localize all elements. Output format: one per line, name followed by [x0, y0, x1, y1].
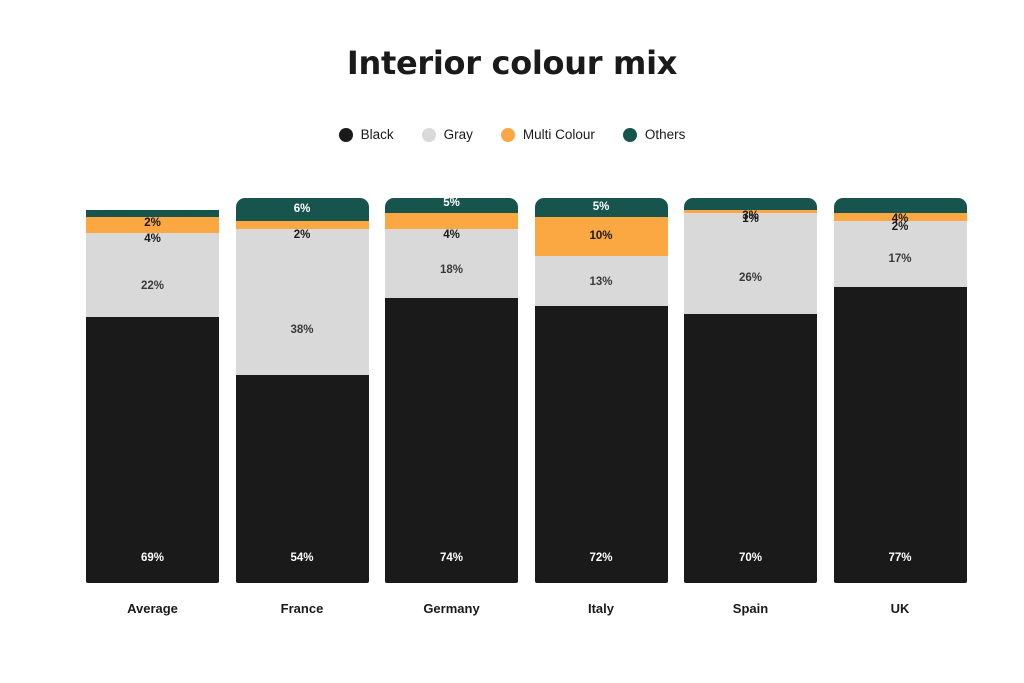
bar-segment[interactable] [385, 229, 518, 298]
bar-segment[interactable] [86, 217, 219, 232]
x-axis-label: France [236, 601, 369, 616]
bar-stack[interactable]: 74%18%4%5% [385, 198, 518, 583]
bar-segment[interactable] [535, 306, 668, 583]
legend-swatch-others-icon [623, 128, 637, 142]
bar-group: 72%13%10%5%Italy [535, 198, 668, 583]
bar-segment[interactable] [684, 314, 817, 584]
legend-label-others: Others [645, 128, 686, 142]
bar-segment[interactable] [236, 198, 369, 221]
bar-segment[interactable] [535, 217, 668, 256]
bar-segment[interactable] [834, 221, 967, 286]
bar-segment[interactable] [385, 198, 518, 213]
bar-group: 77%17%2%4%UK [834, 198, 967, 583]
bar-group: 54%38%2%6%France [236, 198, 369, 583]
x-axis-label: Spain [684, 601, 817, 616]
bar-segment[interactable] [385, 298, 518, 583]
bar-segment[interactable] [236, 221, 369, 229]
bar-segment[interactable] [834, 287, 967, 583]
bar-group: 69%22%4%2%Average [86, 198, 219, 583]
legend-label-gray: Gray [444, 128, 473, 142]
bar-stack[interactable]: 69%22%4%2% [86, 198, 219, 583]
bar-segment[interactable] [236, 229, 369, 375]
bar-segment[interactable] [236, 375, 369, 583]
bar-stack[interactable]: 70%26%1%3% [684, 198, 817, 583]
x-axis-label: Italy [535, 601, 668, 616]
bar-segment[interactable] [834, 213, 967, 221]
bar-segment[interactable] [684, 213, 817, 313]
bar-segment[interactable] [684, 198, 817, 210]
bar-stack[interactable]: 54%38%2%6% [236, 198, 369, 583]
legend-label-black: Black [361, 128, 394, 142]
legend-item-multi-colour[interactable]: Multi Colour [501, 128, 595, 142]
legend-swatch-gray-icon [422, 128, 436, 142]
x-axis-label: Germany [385, 601, 518, 616]
bar-stack[interactable]: 77%17%2%4% [834, 198, 967, 583]
bar-segment[interactable] [834, 198, 967, 213]
bar-segment[interactable] [86, 233, 219, 318]
plot-area: 69%22%4%2%Average54%38%2%6%France74%18%4… [86, 198, 959, 583]
legend-item-gray[interactable]: Gray [422, 128, 473, 142]
legend-swatch-black-icon [339, 128, 353, 142]
legend-swatch-multi-colour-icon [501, 128, 515, 142]
legend-item-others[interactable]: Others [623, 128, 686, 142]
bar-group: 74%18%4%5%Germany [385, 198, 518, 583]
bar-segment[interactable] [535, 256, 668, 306]
x-axis-label: UK [834, 601, 967, 616]
chart-legend: Black Gray Multi Colour Others [0, 128, 1024, 142]
bar-segment[interactable] [535, 198, 668, 217]
bar-segment[interactable] [385, 213, 518, 228]
bar-stack[interactable]: 72%13%10%5% [535, 198, 668, 583]
bar-group: 70%26%1%3%Spain [684, 198, 817, 583]
bar-segment[interactable] [86, 210, 219, 218]
bar-segment[interactable] [684, 210, 817, 214]
x-axis-label: Average [86, 601, 219, 616]
legend-item-black[interactable]: Black [339, 128, 394, 142]
chart-container: Interior colour mix Black Gray Multi Col… [0, 0, 1024, 683]
bar-segment[interactable] [86, 317, 219, 583]
legend-label-multi-colour: Multi Colour [523, 128, 595, 142]
chart-title: Interior colour mix [0, 44, 1024, 82]
